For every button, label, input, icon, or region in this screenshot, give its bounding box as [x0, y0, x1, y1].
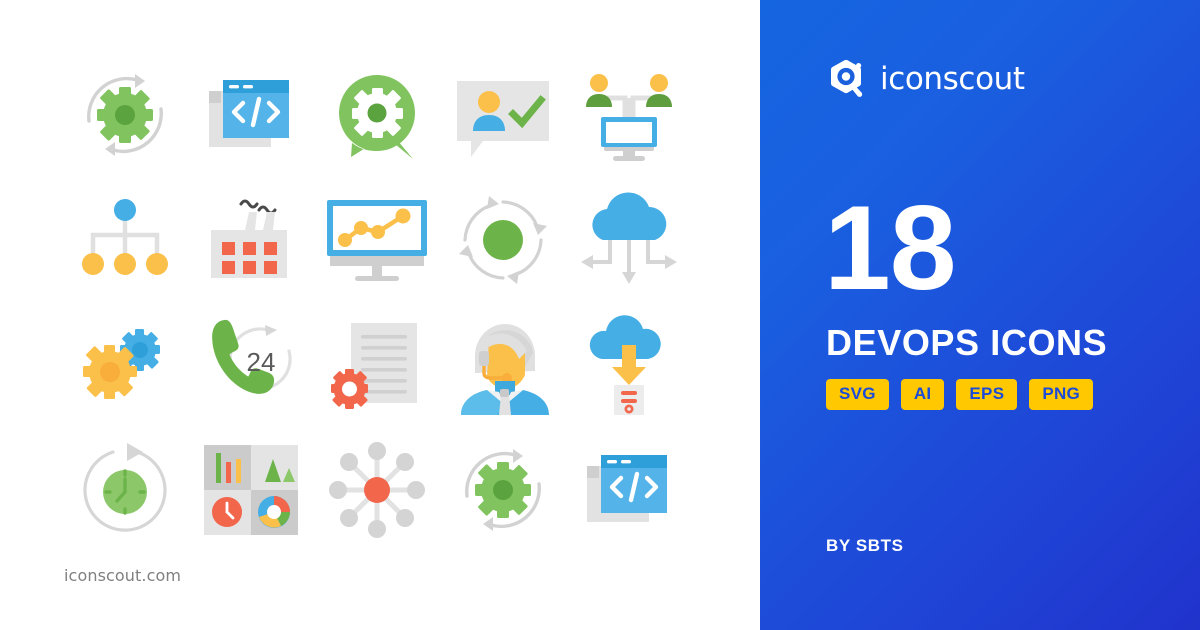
icon-cell-user-approved-message[interactable] [440, 52, 566, 177]
format-badges: SVG AI EPS PNG [826, 379, 1093, 410]
gears-configuration-icon [75, 315, 175, 415]
format-badge-svg[interactable]: SVG [826, 379, 889, 410]
cloud-distribute-icon [577, 190, 681, 290]
brand[interactable]: iconscout [828, 58, 1025, 100]
icon-cell-gears-configuration[interactable] [62, 302, 188, 427]
gear-chat-bubble-icon [327, 65, 427, 165]
icon-count: 18 [824, 193, 955, 303]
circular-arrows-cycle-icon [453, 190, 553, 290]
icon-cell-hierarchy-tree[interactable] [62, 177, 188, 302]
phone-24-label: 24 [247, 347, 276, 377]
icon-cell-team-collaboration-monitor[interactable] [566, 52, 692, 177]
code-browser-window-icon [579, 440, 679, 540]
icon-cell-document-settings[interactable] [314, 302, 440, 427]
format-badge-png[interactable]: PNG [1029, 379, 1093, 410]
icon-cell-factory[interactable] [188, 177, 314, 302]
icon-grid: 24 [62, 52, 692, 552]
icon-cell-dashboard-charts[interactable] [188, 427, 314, 552]
icon-cell-code-browser-window[interactable] [566, 427, 692, 552]
cloud-download-server-icon [586, 315, 672, 415]
icon-cell-network-hub[interactable] [314, 427, 440, 552]
brand-name: iconscout [880, 61, 1025, 97]
icon-cell-phone-24-support[interactable]: 24 [188, 302, 314, 427]
icon-cell-clock-refresh[interactable] [62, 427, 188, 552]
phone-24-support-icon: 24 [201, 315, 301, 415]
pack-title: DEVOPS ICONS [826, 322, 1107, 364]
icon-pack-preview: 24 [0, 0, 1200, 630]
icon-cell-support-agent-headset[interactable] [440, 302, 566, 427]
iconscout-hexagon-logo-icon [828, 58, 870, 100]
icon-grid-panel: 24 [0, 0, 760, 630]
pack-author: BY SBTS [826, 536, 904, 556]
format-badge-ai[interactable]: AI [901, 379, 945, 410]
clock-refresh-icon [75, 440, 175, 540]
info-panel: iconscout 18 DEVOPS ICONS SVG AI EPS PNG… [760, 0, 1200, 630]
continuous-integration-gear-icon [75, 65, 175, 165]
icon-cell-continuous-integration-gear[interactable] [62, 52, 188, 177]
factory-icon [201, 190, 301, 290]
document-settings-icon [327, 315, 427, 415]
icon-cell-cloud-download-server[interactable] [566, 302, 692, 427]
icon-cell-gear-cycle-deploy[interactable] [440, 427, 566, 552]
gear-cycle-deploy-icon [453, 440, 553, 540]
team-collaboration-monitor-icon [579, 65, 679, 165]
support-agent-headset-icon [453, 315, 553, 415]
icon-cell-code-window[interactable] [188, 52, 314, 177]
icon-cell-gear-chat-bubble[interactable] [314, 52, 440, 177]
icon-cell-cloud-distribute[interactable] [566, 177, 692, 302]
network-hub-icon [327, 440, 427, 540]
format-badge-eps[interactable]: EPS [956, 379, 1017, 410]
dashboard-charts-icon [201, 440, 301, 540]
icon-cell-analytics-monitor[interactable] [314, 177, 440, 302]
user-approved-message-icon [453, 65, 553, 165]
code-window-icon [201, 65, 301, 165]
icon-cell-circular-arrows-cycle[interactable] [440, 177, 566, 302]
analytics-monitor-icon [323, 190, 431, 290]
site-url: iconscout.com [64, 566, 181, 585]
hierarchy-tree-icon [75, 190, 175, 290]
